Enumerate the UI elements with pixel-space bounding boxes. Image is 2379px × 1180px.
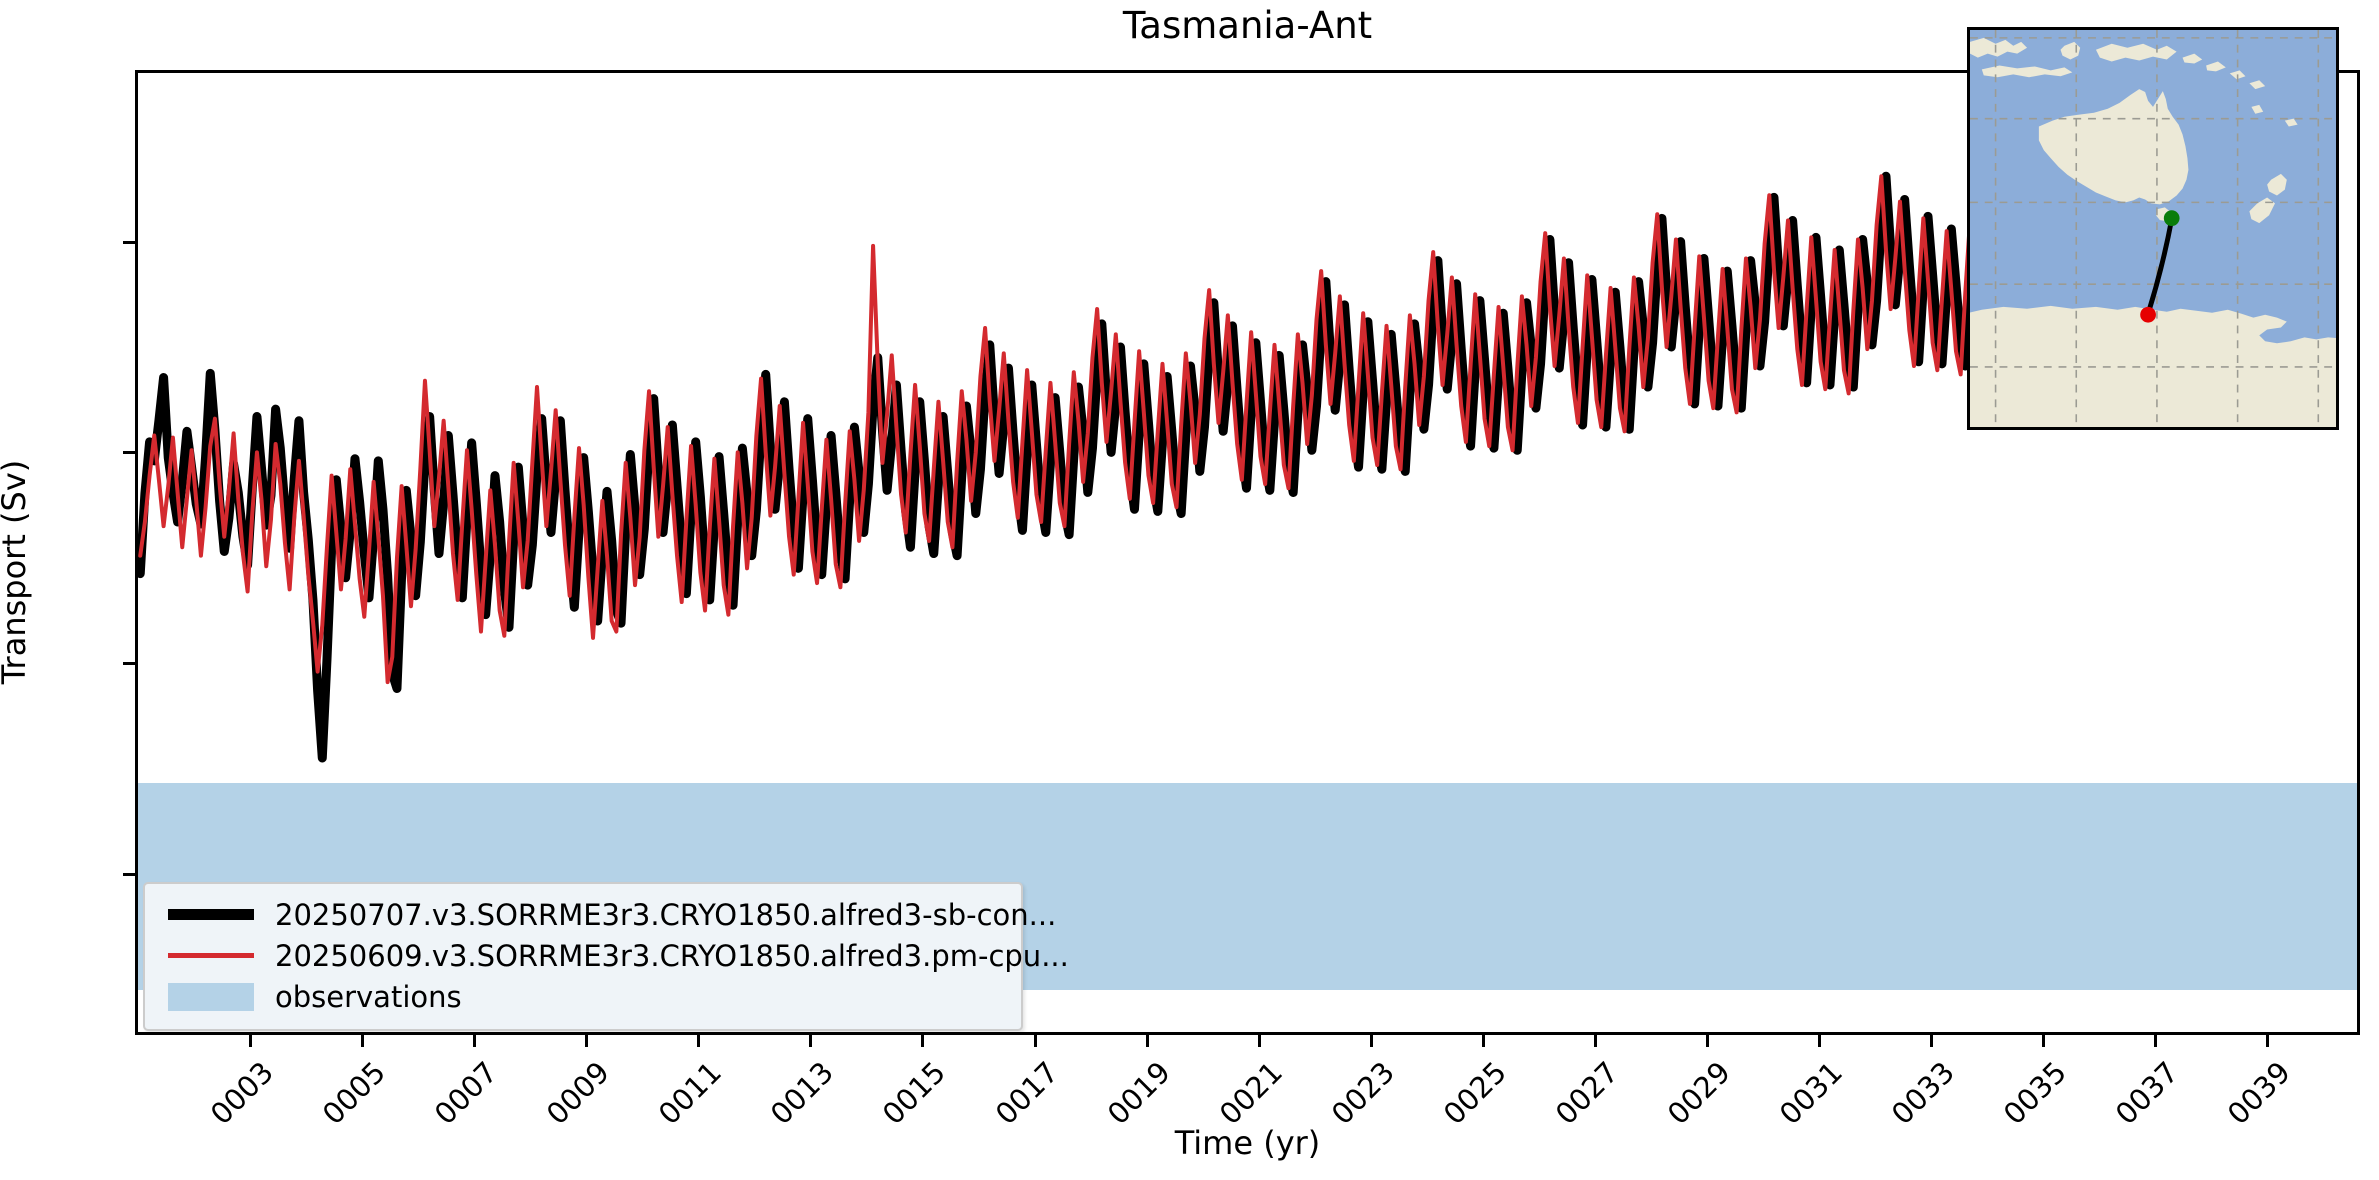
legend-label-observations: observations (263, 980, 462, 1014)
legend-item-red-series[interactable]: 20250609.v3.SORRME3r3.CRYO1850.alfred3.p… (159, 935, 1007, 976)
legend-swatch-line-thin (159, 953, 263, 958)
x-tick-mark (1706, 1035, 1709, 1047)
legend-swatch-band (159, 983, 263, 1011)
series-line-red (140, 176, 2016, 682)
transect-start-marker (2164, 210, 2180, 226)
x-axis-label: Time (yr) (135, 1124, 2360, 1162)
x-tick-mark (1818, 1035, 1821, 1047)
x-tick-mark (2266, 1035, 2269, 1047)
x-tick-mark (809, 1035, 812, 1047)
y-tick-mark (123, 451, 135, 454)
y-tick-mark (123, 241, 135, 244)
transect-location-map[interactable] (1967, 27, 2339, 430)
legend-label-black-series: 20250707.v3.SORRME3r3.CRYO1850.alfred3-s… (263, 898, 1056, 932)
x-tick-mark (1594, 1035, 1597, 1047)
legend-item-black-series[interactable]: 20250707.v3.SORRME3r3.CRYO1850.alfred3-s… (159, 894, 1007, 935)
x-tick-mark (1146, 1035, 1149, 1047)
x-tick-mark (2154, 1035, 2157, 1047)
x-tick-mark (1370, 1035, 1373, 1047)
map-svg (1970, 30, 2336, 427)
x-tick-mark (249, 1035, 252, 1047)
y-tick-mark (123, 662, 135, 665)
x-tick-mark (361, 1035, 364, 1047)
legend-label-red-series: 20250609.v3.SORRME3r3.CRYO1850.alfred3.p… (263, 939, 1069, 973)
legend-swatch-line-thick (159, 909, 263, 920)
x-tick-mark (1930, 1035, 1933, 1047)
x-tick-mark (2042, 1035, 2045, 1047)
x-tick-mark (1034, 1035, 1037, 1047)
chart-legend[interactable]: 20250707.v3.SORRME3r3.CRYO1850.alfred3-s… (143, 882, 1023, 1031)
transect-end-marker (2140, 307, 2156, 323)
x-tick-mark (473, 1035, 476, 1047)
y-tick-mark (123, 873, 135, 876)
y-axis-label: Transport (Sv) (0, 362, 33, 782)
legend-item-observations[interactable]: observations (159, 976, 1007, 1017)
x-tick-mark (921, 1035, 924, 1047)
x-tick-mark (697, 1035, 700, 1047)
x-tick-mark (585, 1035, 588, 1047)
x-tick-mark (1258, 1035, 1261, 1047)
figure-canvas: Tasmania-Ant Transport (Sv) 160180200220… (0, 0, 2379, 1180)
x-tick-mark (1482, 1035, 1485, 1047)
